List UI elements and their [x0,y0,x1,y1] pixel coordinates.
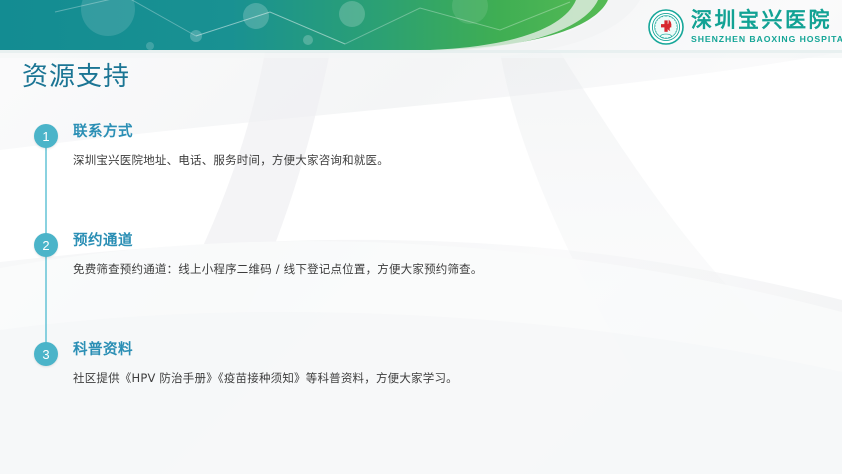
timeline-bullet-1: 1 [34,124,58,148]
list-item-body: 预约通道 免费筛查预约通道：线上小程序二维码 / 线下登记点位置，方便大家预约筛… [73,231,594,281]
list-item-body: 联系方式 深圳宝兴医院地址、电话、服务时间，方便大家咨询和就医。 [73,122,594,172]
list-item-description: 免费筛查预约通道：线上小程序二维码 / 线下登记点位置，方便大家预约筛查。 [73,259,493,280]
hospital-name-en: SHENZHEN BAOXING HOSPITAL [691,35,842,44]
list-item-heading: 科普资料 [73,340,594,360]
hospital-name-cn: 深圳宝兴医院 [691,10,842,31]
slide-canvas: 深圳宝兴医院 SHENZHEN BAOXING HOSPITAL 资源支持 1 … [0,0,842,474]
list-item: 1 联系方式 深圳宝兴医院地址、电话、服务时间，方便大家咨询和就医。 [34,122,594,231]
list-item-description: 深圳宝兴医院地址、电话、服务时间，方便大家咨询和就医。 [73,150,493,171]
list-item-body: 科普资料 社区提供《HPV 防治手册》《疫苗接种须知》等科普资料，方便大家学习。 [73,340,594,390]
hospital-logo-text: 深圳宝兴医院 SHENZHEN BAOXING HOSPITAL [691,10,842,44]
list-item-heading: 预约通道 [73,231,594,251]
list-item: 2 预约通道 免费筛查预约通道：线上小程序二维码 / 线下登记点位置，方便大家预… [34,231,594,340]
list-item-description: 社区提供《HPV 防治手册》《疫苗接种须知》等科普资料，方便大家学习。 [73,368,493,389]
list-item-heading: 联系方式 [73,122,594,142]
hospital-emblem-icon [648,9,684,45]
page-title: 资源支持 [22,56,130,93]
hospital-logo: 深圳宝兴医院 SHENZHEN BAOXING HOSPITAL [648,6,842,48]
timeline-bullet-2: 2 [34,233,58,257]
resource-timeline: 1 联系方式 深圳宝兴医院地址、电话、服务时间，方便大家咨询和就医。 2 预约通… [34,122,594,449]
timeline-bullet-3: 3 [34,342,58,366]
list-item: 3 科普资料 社区提供《HPV 防治手册》《疫苗接种须知》等科普资料，方便大家学… [34,340,594,449]
emblem-svg [648,9,684,45]
